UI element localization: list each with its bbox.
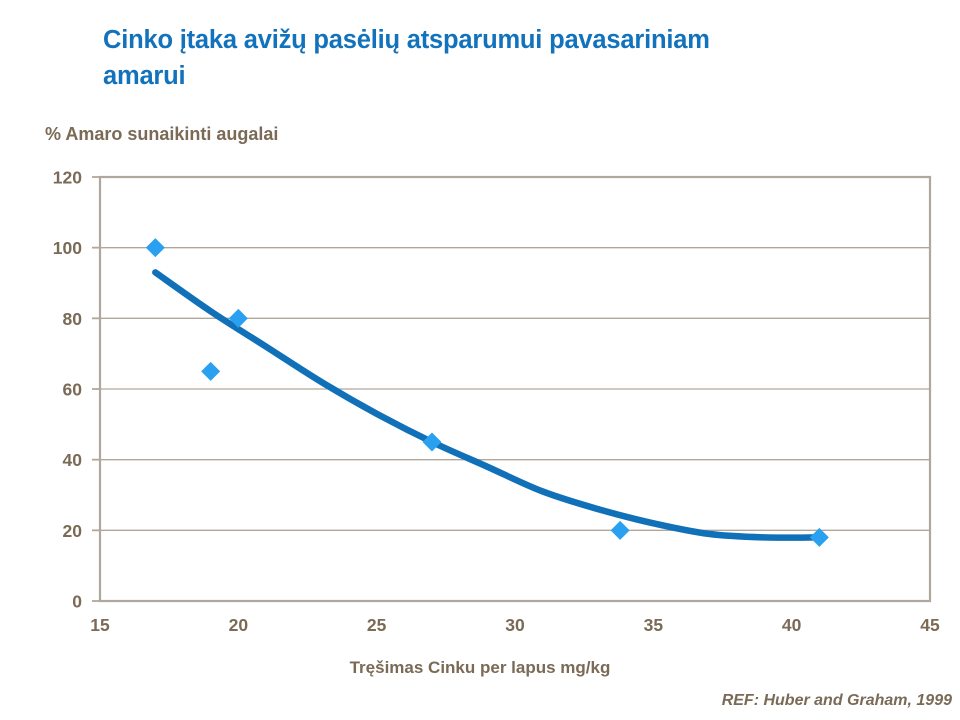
x-tick-label: 20	[229, 615, 249, 635]
y-tick-label: 0	[72, 592, 82, 612]
chart-container: Cinko įtaka avižų pasėlių atsparumui pav…	[0, 0, 960, 720]
x-tick-label: 25	[367, 615, 387, 635]
axis-ticks	[92, 177, 100, 601]
data-point-marker	[611, 521, 630, 540]
x-axis-tick-labels: 15202530354045	[90, 615, 940, 635]
x-tick-label: 30	[505, 615, 525, 635]
x-axis-title: Tręšimas Cinku per lapus mg/kg	[0, 658, 960, 678]
y-tick-label: 120	[53, 168, 82, 188]
x-tick-label: 35	[644, 615, 664, 635]
gridlines	[100, 248, 930, 531]
data-point-marker	[201, 362, 220, 381]
plot-area: 020406080100120 15202530354045	[0, 0, 960, 720]
x-tick-label: 15	[90, 615, 110, 635]
y-axis-tick-labels: 020406080100120	[53, 168, 82, 612]
trend-line-path	[155, 272, 819, 537]
y-tick-label: 40	[63, 450, 83, 470]
y-tick-label: 60	[63, 380, 83, 400]
trend-line	[155, 272, 819, 537]
y-tick-label: 100	[53, 238, 82, 258]
x-tick-label: 40	[782, 615, 802, 635]
reference-annotation: REF: Huber and Graham, 1999	[722, 692, 952, 710]
data-point-markers	[146, 238, 829, 547]
y-tick-label: 80	[63, 309, 83, 329]
x-tick-label: 45	[920, 615, 940, 635]
y-tick-label: 20	[63, 521, 83, 541]
data-point-marker	[146, 238, 165, 257]
